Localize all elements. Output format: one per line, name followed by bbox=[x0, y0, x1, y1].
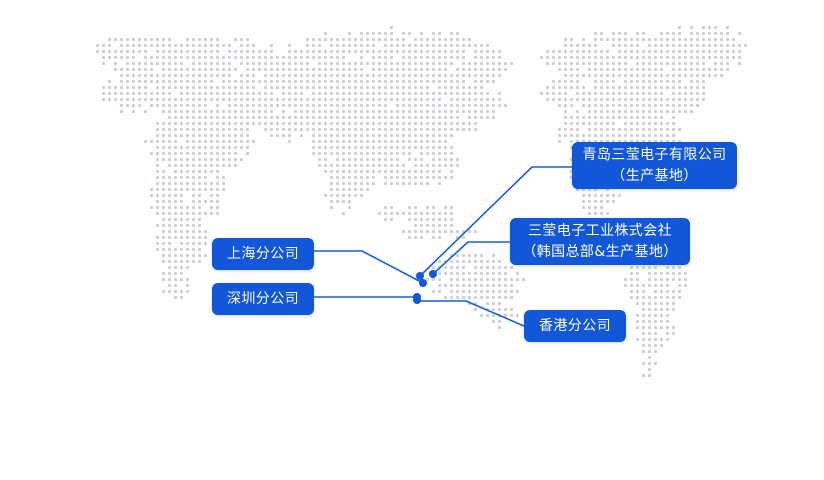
map-dot bbox=[360, 32, 363, 35]
map-dot bbox=[168, 242, 171, 245]
map-dot bbox=[294, 80, 297, 83]
map-dot bbox=[144, 50, 147, 53]
map-dot bbox=[342, 200, 345, 203]
map-dot bbox=[210, 116, 213, 119]
map-dot bbox=[222, 116, 225, 119]
map-dot bbox=[438, 122, 441, 125]
map-dot bbox=[438, 80, 441, 83]
map-dot bbox=[162, 74, 165, 77]
map-dot bbox=[132, 86, 135, 89]
map-dot bbox=[330, 44, 333, 47]
map-dot bbox=[546, 56, 549, 59]
map-dot bbox=[468, 92, 471, 95]
map-dot bbox=[180, 158, 183, 161]
map-dot bbox=[696, 98, 699, 101]
map-dot bbox=[618, 104, 621, 107]
map-dot bbox=[570, 56, 573, 59]
map-dot bbox=[672, 32, 675, 35]
map-dot bbox=[156, 74, 159, 77]
map-dot bbox=[210, 80, 213, 83]
map-dot bbox=[162, 290, 165, 293]
map-dot bbox=[366, 104, 369, 107]
map-dot bbox=[222, 146, 225, 149]
map-dot bbox=[198, 140, 201, 143]
map-dot bbox=[708, 74, 711, 77]
map-dot bbox=[144, 140, 147, 143]
map-dot bbox=[414, 134, 417, 137]
map-dot bbox=[108, 86, 111, 89]
map-dot bbox=[690, 98, 693, 101]
map-dot bbox=[252, 86, 255, 89]
map-dot bbox=[342, 158, 345, 161]
map-dot bbox=[228, 116, 231, 119]
map-dot bbox=[630, 134, 633, 137]
node-korea[interactable] bbox=[429, 270, 437, 278]
map-dot bbox=[156, 164, 159, 167]
map-dot bbox=[654, 74, 657, 77]
map-dot bbox=[372, 146, 375, 149]
map-dot bbox=[360, 44, 363, 47]
map-dot bbox=[168, 290, 171, 293]
map-dot bbox=[276, 116, 279, 119]
map-dot bbox=[288, 86, 291, 89]
map-dot bbox=[612, 98, 615, 101]
label-shenzhen[interactable]: 深圳分公司 bbox=[212, 283, 314, 315]
map-dot bbox=[606, 56, 609, 59]
map-dot bbox=[390, 50, 393, 53]
map-dot bbox=[300, 62, 303, 65]
map-dot bbox=[168, 44, 171, 47]
map-dot bbox=[420, 116, 423, 119]
map-dot bbox=[348, 86, 351, 89]
map-dot bbox=[204, 134, 207, 137]
map-dot bbox=[456, 164, 459, 167]
map-dot bbox=[420, 134, 423, 137]
map-dot bbox=[180, 272, 183, 275]
map-dot bbox=[438, 104, 441, 107]
map-dot bbox=[684, 44, 687, 47]
map-dot bbox=[588, 68, 591, 71]
map-dot bbox=[186, 128, 189, 131]
map-dot bbox=[192, 128, 195, 131]
map-dot bbox=[204, 62, 207, 65]
map-dot bbox=[660, 302, 663, 305]
map-dot bbox=[684, 110, 687, 113]
map-dot bbox=[210, 38, 213, 41]
map-dot bbox=[126, 44, 129, 47]
label-qingdao[interactable]: 青岛三莹电子有限公司（生产基地） bbox=[572, 142, 737, 189]
map-dot bbox=[168, 212, 171, 215]
map-dot bbox=[684, 272, 687, 275]
map-dot bbox=[330, 182, 333, 185]
map-dot bbox=[330, 50, 333, 53]
map-dot bbox=[216, 74, 219, 77]
map-dot bbox=[402, 122, 405, 125]
map-dot bbox=[264, 98, 267, 101]
map-dot bbox=[336, 38, 339, 41]
map-dot bbox=[450, 218, 453, 221]
map-dot bbox=[378, 50, 381, 53]
map-dot bbox=[672, 134, 675, 137]
map-dot bbox=[192, 200, 195, 203]
map-dot bbox=[174, 278, 177, 281]
map-dot bbox=[732, 38, 735, 41]
map-dot bbox=[120, 92, 123, 95]
map-dot bbox=[294, 98, 297, 101]
map-dot bbox=[510, 284, 513, 287]
map-dot bbox=[564, 116, 567, 119]
map-dot bbox=[420, 212, 423, 215]
map-dot bbox=[402, 38, 405, 41]
map-dot bbox=[504, 272, 507, 275]
map-dot bbox=[144, 38, 147, 41]
map-dot bbox=[486, 50, 489, 53]
map-dot bbox=[258, 50, 261, 53]
map-dot bbox=[438, 146, 441, 149]
map-dot bbox=[168, 260, 171, 263]
map-dot bbox=[204, 122, 207, 125]
map-dot bbox=[288, 62, 291, 65]
map-dot bbox=[288, 134, 291, 137]
map-dot bbox=[366, 38, 369, 41]
map-dot bbox=[246, 104, 249, 107]
map-dot bbox=[378, 146, 381, 149]
map-dot bbox=[324, 98, 327, 101]
map-dot bbox=[426, 218, 429, 221]
map-dot bbox=[684, 98, 687, 101]
map-dot bbox=[240, 80, 243, 83]
map-dot bbox=[318, 134, 321, 137]
map-dot bbox=[708, 50, 711, 53]
map-dot bbox=[192, 74, 195, 77]
map-dot bbox=[198, 248, 201, 251]
map-dot bbox=[312, 116, 315, 119]
map-dot bbox=[378, 116, 381, 119]
map-dot bbox=[708, 32, 711, 35]
map-dot bbox=[168, 98, 171, 101]
map-dot bbox=[198, 38, 201, 41]
map-dot bbox=[396, 110, 399, 113]
map-dot bbox=[132, 110, 135, 113]
map-dot bbox=[456, 284, 459, 287]
node-hongkong[interactable] bbox=[413, 296, 421, 304]
map-dot bbox=[600, 194, 603, 197]
map-dot bbox=[564, 122, 567, 125]
map-dot bbox=[294, 62, 297, 65]
map-dot bbox=[474, 56, 477, 59]
map-dot bbox=[384, 116, 387, 119]
map-dot bbox=[432, 134, 435, 137]
map-dot bbox=[666, 80, 669, 83]
map-dot bbox=[222, 86, 225, 89]
map-dot bbox=[408, 116, 411, 119]
map-dot bbox=[186, 92, 189, 95]
map-dot bbox=[414, 176, 417, 179]
map-dot bbox=[360, 68, 363, 71]
map-dot bbox=[666, 338, 669, 341]
map-dot bbox=[384, 218, 387, 221]
map-dot bbox=[324, 122, 327, 125]
map-dot bbox=[618, 74, 621, 77]
map-dot bbox=[654, 308, 657, 311]
map-dot bbox=[282, 128, 285, 131]
map-dot bbox=[198, 44, 201, 47]
map-dot bbox=[204, 116, 207, 119]
map-dot bbox=[192, 182, 195, 185]
map-dot bbox=[672, 68, 675, 71]
map-dot bbox=[402, 140, 405, 143]
map-dot bbox=[192, 188, 195, 191]
map-dot bbox=[258, 110, 261, 113]
map-dot bbox=[648, 62, 651, 65]
map-dot bbox=[210, 152, 213, 155]
map-dot bbox=[420, 176, 423, 179]
label-korea-hq[interactable]: 三莹电子工业株式会社（韩国总部&生产基地） bbox=[510, 218, 690, 265]
map-dot bbox=[660, 86, 663, 89]
map-dot bbox=[630, 74, 633, 77]
map-dot bbox=[408, 68, 411, 71]
map-dot bbox=[306, 128, 309, 131]
map-dot bbox=[390, 68, 393, 71]
map-dot bbox=[600, 62, 603, 65]
map-dot bbox=[414, 38, 417, 41]
map-dot bbox=[318, 140, 321, 143]
map-dot bbox=[384, 110, 387, 113]
map-dot bbox=[234, 68, 237, 71]
map-dot bbox=[366, 188, 369, 191]
map-dot bbox=[552, 92, 555, 95]
map-dot bbox=[198, 104, 201, 107]
map-dot bbox=[186, 104, 189, 107]
map-dot bbox=[660, 278, 663, 281]
map-dot bbox=[660, 308, 663, 311]
map-dot bbox=[642, 110, 645, 113]
map-dot bbox=[348, 62, 351, 65]
label-shanghai[interactable]: 上海分公司 bbox=[212, 238, 314, 270]
map-dot bbox=[174, 98, 177, 101]
map-dot bbox=[372, 50, 375, 53]
map-dot bbox=[204, 128, 207, 131]
map-dot bbox=[744, 44, 747, 47]
map-dot bbox=[336, 164, 339, 167]
map-dot bbox=[174, 122, 177, 125]
map-dot bbox=[156, 56, 159, 59]
map-dot bbox=[276, 86, 279, 89]
map-dot bbox=[192, 212, 195, 215]
map-dot bbox=[462, 122, 465, 125]
map-dot bbox=[366, 92, 369, 95]
map-dot bbox=[468, 110, 471, 113]
map-dot bbox=[270, 80, 273, 83]
map-dot bbox=[258, 98, 261, 101]
map-dot bbox=[636, 62, 639, 65]
map-dot bbox=[408, 56, 411, 59]
map-dot bbox=[366, 110, 369, 113]
map-dot bbox=[588, 56, 591, 59]
map-dot bbox=[624, 92, 627, 95]
map-dot bbox=[582, 44, 585, 47]
map-dot bbox=[594, 206, 597, 209]
map-dot bbox=[330, 128, 333, 131]
map-dot bbox=[426, 152, 429, 155]
map-dot bbox=[474, 128, 477, 131]
map-dot bbox=[522, 278, 525, 281]
map-dot bbox=[642, 128, 645, 131]
map-dot bbox=[570, 122, 573, 125]
map-dot bbox=[648, 296, 651, 299]
map-dot bbox=[390, 116, 393, 119]
map-dot bbox=[156, 104, 159, 107]
map-dot bbox=[324, 86, 327, 89]
map-dot bbox=[420, 80, 423, 83]
map-dot bbox=[342, 92, 345, 95]
map-dot bbox=[336, 86, 339, 89]
map-dot bbox=[360, 104, 363, 107]
map-dot bbox=[336, 188, 339, 191]
map-dot bbox=[276, 98, 279, 101]
map-dot bbox=[594, 98, 597, 101]
map-dot bbox=[630, 86, 633, 89]
map-dot bbox=[690, 104, 693, 107]
map-dot bbox=[324, 164, 327, 167]
map-dot bbox=[192, 146, 195, 149]
map-dot bbox=[678, 92, 681, 95]
map-dot bbox=[396, 164, 399, 167]
map-dot bbox=[168, 50, 171, 53]
map-dot bbox=[150, 44, 153, 47]
map-dot bbox=[654, 272, 657, 275]
map-dot bbox=[678, 98, 681, 101]
map-dot bbox=[192, 80, 195, 83]
map-dot bbox=[450, 92, 453, 95]
map-dot bbox=[384, 74, 387, 77]
map-dot bbox=[444, 164, 447, 167]
map-dot bbox=[168, 278, 171, 281]
map-dot bbox=[558, 56, 561, 59]
map-dot bbox=[162, 158, 165, 161]
map-dot bbox=[678, 32, 681, 35]
map-dot bbox=[216, 140, 219, 143]
map-dot bbox=[372, 56, 375, 59]
map-dot bbox=[666, 326, 669, 329]
map-dot bbox=[216, 158, 219, 161]
map-dot bbox=[636, 290, 639, 293]
map-dot bbox=[648, 314, 651, 317]
map-dot bbox=[738, 62, 741, 65]
map-dot bbox=[138, 50, 141, 53]
map-dot bbox=[468, 104, 471, 107]
map-dot bbox=[126, 62, 129, 65]
map-dot bbox=[126, 38, 129, 41]
map-dot bbox=[480, 86, 483, 89]
node-shanghai[interactable] bbox=[419, 279, 427, 287]
map-dot bbox=[270, 98, 273, 101]
map-dot bbox=[348, 152, 351, 155]
map-dot bbox=[648, 116, 651, 119]
map-dot bbox=[432, 212, 435, 215]
map-dot bbox=[228, 92, 231, 95]
map-dot bbox=[714, 38, 717, 41]
map-dot bbox=[150, 98, 153, 101]
map-dot bbox=[606, 74, 609, 77]
map-dot bbox=[432, 116, 435, 119]
map-dot bbox=[210, 56, 213, 59]
map-dot bbox=[390, 62, 393, 65]
map-dot bbox=[234, 134, 237, 137]
map-dot bbox=[384, 164, 387, 167]
map-dot bbox=[96, 50, 99, 53]
map-dot bbox=[648, 362, 651, 365]
map-dot bbox=[438, 86, 441, 89]
map-dot bbox=[150, 104, 153, 107]
map-dot bbox=[702, 92, 705, 95]
map-dot bbox=[444, 128, 447, 131]
map-dot bbox=[672, 266, 675, 269]
map-dot bbox=[360, 122, 363, 125]
map-dot bbox=[360, 110, 363, 113]
map-dot bbox=[408, 140, 411, 143]
map-dot bbox=[438, 110, 441, 113]
map-dot bbox=[192, 260, 195, 263]
map-dot bbox=[222, 128, 225, 131]
map-dot bbox=[564, 80, 567, 83]
map-dot bbox=[318, 110, 321, 113]
map-dot bbox=[450, 152, 453, 155]
map-dot bbox=[132, 56, 135, 59]
map-dot bbox=[162, 104, 165, 107]
map-dot bbox=[312, 56, 315, 59]
map-dot bbox=[366, 182, 369, 185]
map-dot bbox=[378, 158, 381, 161]
map-dot bbox=[690, 110, 693, 113]
map-dot bbox=[396, 158, 399, 161]
map-dot bbox=[222, 62, 225, 65]
map-dot bbox=[336, 194, 339, 197]
map-dot bbox=[636, 68, 639, 71]
map-dot bbox=[630, 278, 633, 281]
map-dot bbox=[312, 110, 315, 113]
map-dot bbox=[618, 98, 621, 101]
map-dot bbox=[450, 86, 453, 89]
map-dot bbox=[426, 146, 429, 149]
map-dot bbox=[180, 242, 183, 245]
map-dot bbox=[462, 98, 465, 101]
label-hongkong[interactable]: 香港分公司 bbox=[524, 310, 626, 342]
map-dot bbox=[216, 122, 219, 125]
map-dot bbox=[348, 50, 351, 53]
map-dot bbox=[390, 176, 393, 179]
map-dot bbox=[102, 56, 105, 59]
map-dot bbox=[456, 32, 459, 35]
map-dot bbox=[498, 290, 501, 293]
map-dot bbox=[576, 44, 579, 47]
map-dot bbox=[282, 86, 285, 89]
map-dot bbox=[450, 56, 453, 59]
map-dot bbox=[672, 296, 675, 299]
map-dot bbox=[312, 140, 315, 143]
map-dot bbox=[270, 68, 273, 71]
map-dot bbox=[720, 68, 723, 71]
map-dot bbox=[180, 182, 183, 185]
map-dot bbox=[186, 158, 189, 161]
map-dot bbox=[216, 146, 219, 149]
map-dot bbox=[342, 116, 345, 119]
map-dot bbox=[276, 62, 279, 65]
map-dot bbox=[114, 92, 117, 95]
map-dot bbox=[156, 80, 159, 83]
map-dot bbox=[132, 92, 135, 95]
map-dot bbox=[426, 80, 429, 83]
